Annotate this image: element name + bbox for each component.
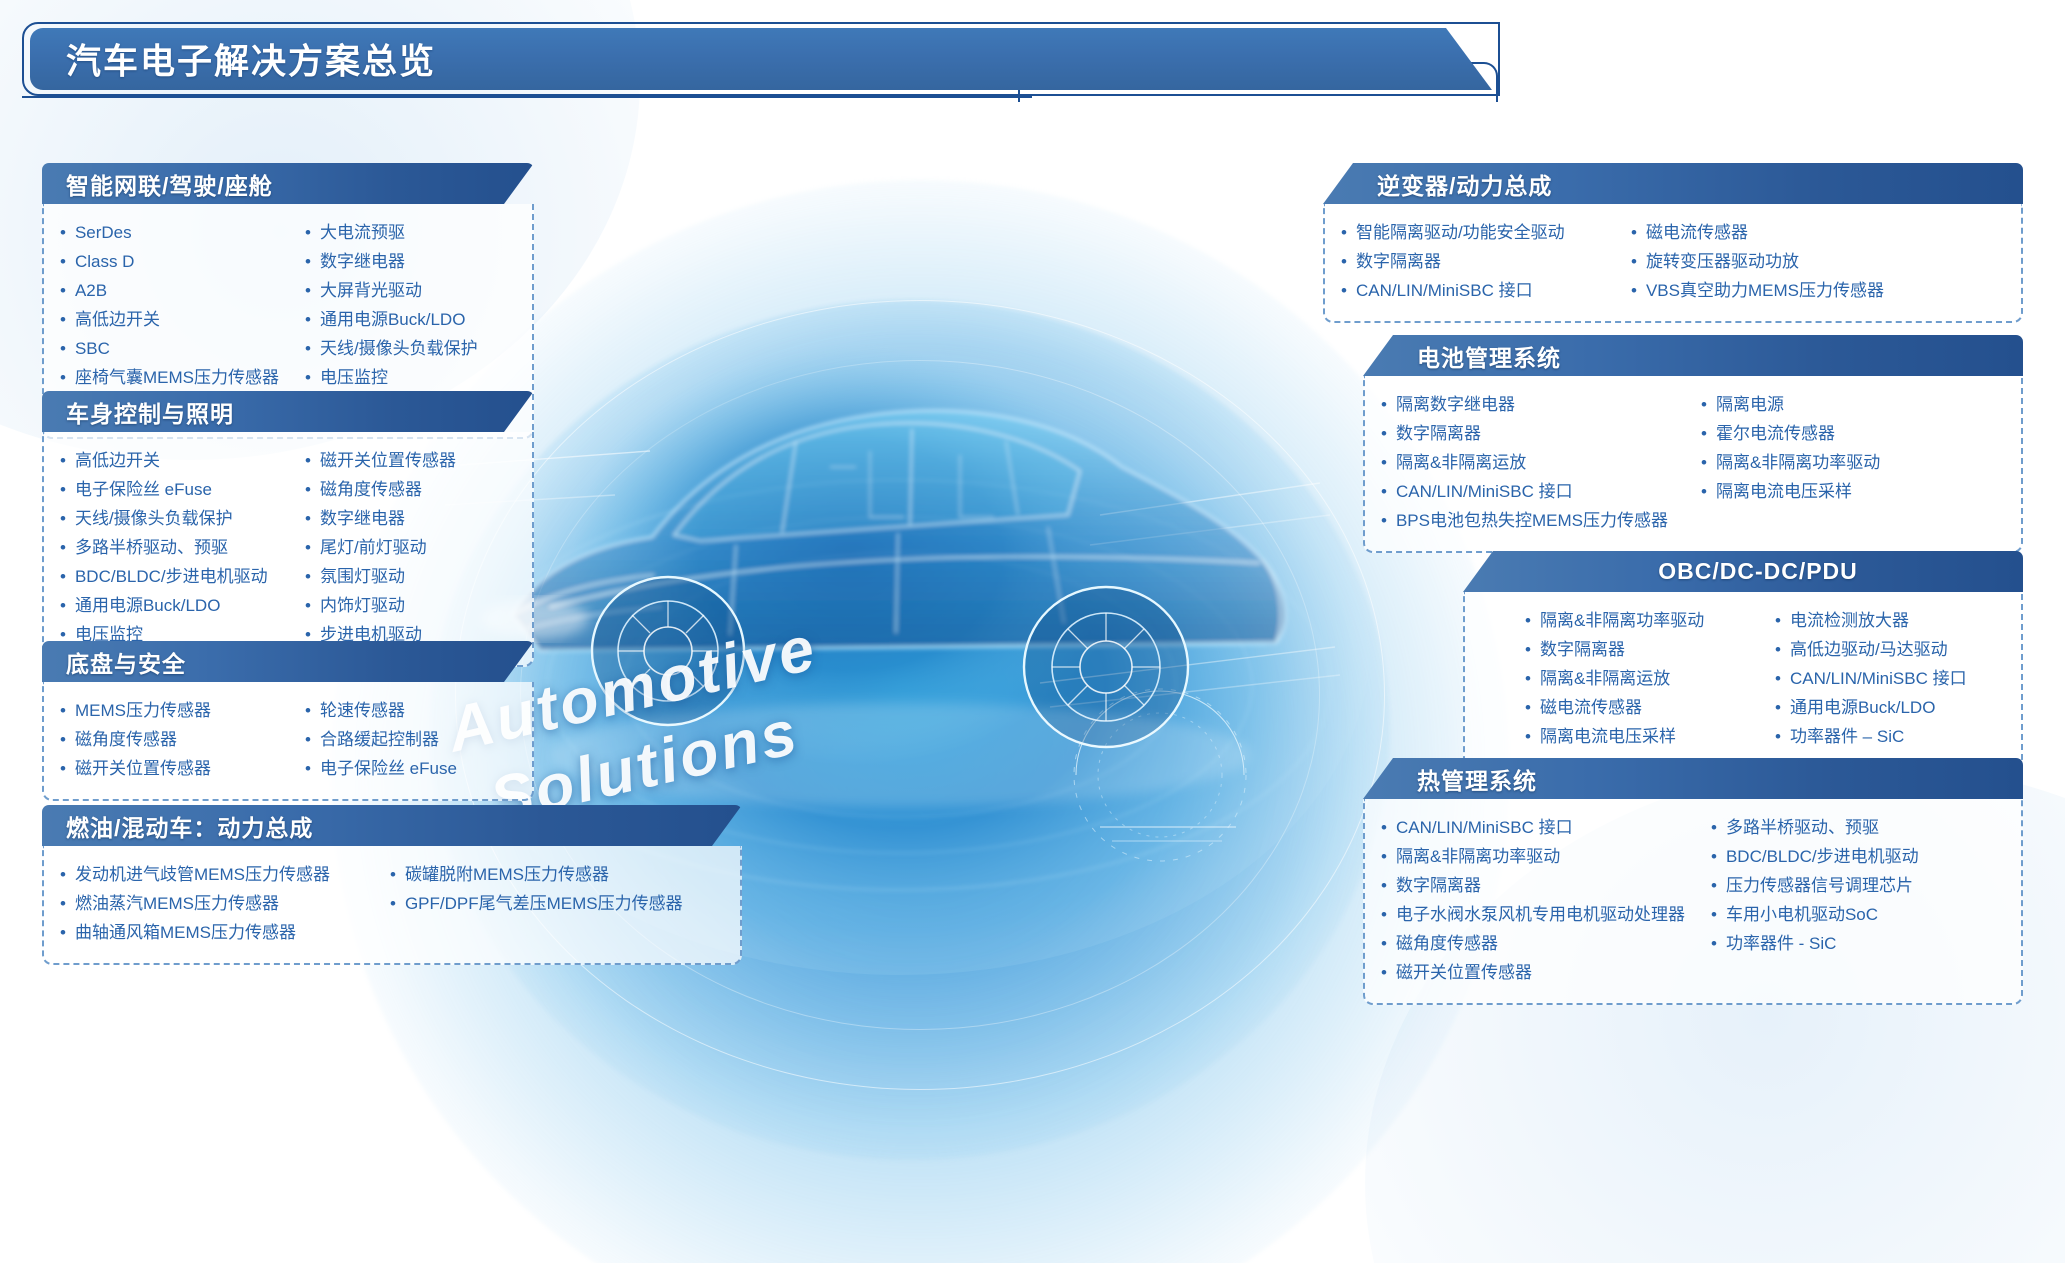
bullet-dot-icon: • xyxy=(390,860,396,889)
bullet-dot-icon: • xyxy=(305,363,311,392)
list-item: •尾灯/前灯驱动 xyxy=(305,533,456,562)
bullet-dot-icon: • xyxy=(305,754,311,783)
panel-column-2: •电流检测放大器•高低边驱动/马达驱动•CAN/LIN/MiniSBC 接口•通… xyxy=(1775,606,1967,751)
list-item: •隔离数字继电器 xyxy=(1381,390,1701,419)
bullet-dot-icon: • xyxy=(60,533,66,562)
bullet-dot-icon: • xyxy=(60,754,66,783)
bullet-dot-icon: • xyxy=(60,504,66,533)
list-item: •发动机进气歧管MEMS压力传感器 xyxy=(60,860,390,889)
list-item-label: 磁电流传感器 xyxy=(1646,218,1748,247)
list-item: •隔离电源 xyxy=(1701,390,1880,419)
list-item-label: 电子保险丝 eFuse xyxy=(75,475,212,504)
bullet-dot-icon: • xyxy=(60,446,66,475)
panel-body-content-thermal-management-system: •CAN/LIN/MiniSBC 接口•隔离&非隔离功率驱动•数字隔离器•电子水… xyxy=(1363,799,2023,1005)
list-item: •电压监控 xyxy=(305,363,478,392)
bullet-dot-icon: • xyxy=(60,562,66,591)
bullet-dot-icon: • xyxy=(60,918,66,947)
list-item: •内饰灯驱动 xyxy=(305,591,456,620)
list-item: •隔离&非隔离功率驱动 xyxy=(1525,606,1775,635)
header-banner-underline xyxy=(22,96,1032,98)
bullet-dot-icon: • xyxy=(60,334,66,363)
list-item-label: 磁开关位置传感器 xyxy=(75,754,211,783)
bullet-dot-icon: • xyxy=(1525,693,1531,722)
list-item: •隔离&非隔离功率驱动 xyxy=(1701,448,1880,477)
bullet-dot-icon: • xyxy=(60,725,66,754)
bullet-dot-icon: • xyxy=(1711,929,1717,958)
bullet-dot-icon: • xyxy=(305,334,311,363)
panel-body-content-ice-hybrid-powertrain: •发动机进气歧管MEMS压力传感器•燃油蒸汽MEMS压力传感器•曲轴通风箱MEM… xyxy=(42,846,742,965)
bullet-dot-icon: • xyxy=(1381,958,1387,987)
list-item-label: 霍尔电流传感器 xyxy=(1716,419,1835,448)
panel-header-inverter-powertrain: 逆变器/动力总成 xyxy=(1323,163,2023,204)
list-item: •数字隔离器 xyxy=(1525,635,1775,664)
list-item-label: BDC/BLDC/步进电机驱动 xyxy=(75,562,268,591)
list-item: •VBS真空助力MEMS压力传感器 xyxy=(1631,276,1884,305)
list-item-label: CAN/LIN/MiniSBC 接口 xyxy=(1396,813,1573,842)
list-item: •天线/摄像头负载保护 xyxy=(60,504,305,533)
bullet-dot-icon: • xyxy=(1381,419,1387,448)
panel-body-content-inverter-powertrain: •智能隔离驱动/功能安全驱动•数字隔离器•CAN/LIN/MiniSBC 接口 … xyxy=(1323,204,2023,323)
list-item: •通用电源Buck/LDO xyxy=(1775,693,1967,722)
list-item-label: 电子水阀水泵风机专用电机驱动处理器 xyxy=(1396,900,1685,929)
list-item-label: 数字隔离器 xyxy=(1396,871,1481,900)
list-item-label: 功率器件 - SiC xyxy=(1726,929,1837,958)
list-item: •多路半桥驱动、预驱 xyxy=(1711,813,1919,842)
list-item-label: 天线/摄像头负载保护 xyxy=(320,334,478,363)
list-item-label: 磁开关位置传感器 xyxy=(1396,958,1532,987)
list-item: •隔离电流电压采样 xyxy=(1701,477,1880,506)
panel-thermal-management-system[interactable]: 热管理系统 •CAN/LIN/MiniSBC 接口•隔离&非隔离功率驱动•数字隔… xyxy=(1363,758,2023,1005)
panel-ice-hybrid-powertrain[interactable]: 燃油/混动车：动力总成 •发动机进气歧管MEMS压力传感器•燃油蒸汽MEMS压力… xyxy=(42,805,742,965)
panel-chassis-safety[interactable]: 底盘与安全 •MEMS压力传感器•磁角度传感器•磁开关位置传感器 •轮速传感器•… xyxy=(42,641,534,801)
list-item-label: CAN/LIN/MiniSBC 接口 xyxy=(1790,664,1967,693)
list-item: •通用电源Buck/LDO xyxy=(305,305,478,334)
panel-header-battery-management-system: 电池管理系统 xyxy=(1363,335,2023,376)
list-item-label: 隔离&非隔离运放 xyxy=(1396,448,1526,477)
list-item-label: 电流检测放大器 xyxy=(1790,606,1909,635)
panel-header-chassis-safety: 底盘与安全 xyxy=(42,641,534,682)
bullet-dot-icon: • xyxy=(1381,390,1387,419)
bullet-dot-icon: • xyxy=(305,276,311,305)
list-item-label: 磁角度传感器 xyxy=(1396,929,1498,958)
bullet-dot-icon: • xyxy=(1341,276,1347,305)
list-item-label: 轮速传感器 xyxy=(320,696,405,725)
panel-battery-management-system[interactable]: 电池管理系统 •隔离数字继电器•数字隔离器•隔离&非隔离运放•CAN/LIN/M… xyxy=(1363,335,2023,553)
bullet-dot-icon: • xyxy=(1525,664,1531,693)
list-item: •天线/摄像头负载保护 xyxy=(305,334,478,363)
bullet-dot-icon: • xyxy=(1381,477,1387,506)
list-item: •磁开关位置传感器 xyxy=(1381,958,1711,987)
bullet-dot-icon: • xyxy=(1381,506,1387,535)
panel-column-1: •CAN/LIN/MiniSBC 接口•隔离&非隔离功率驱动•数字隔离器•电子水… xyxy=(1381,813,1711,987)
bullet-dot-icon: • xyxy=(1631,247,1637,276)
list-item: •磁开关位置传感器 xyxy=(60,754,305,783)
list-item-label: SerDes xyxy=(75,218,132,247)
list-item-label: 隔离数字继电器 xyxy=(1396,390,1515,419)
list-item-label: 隔离电源 xyxy=(1716,390,1784,419)
panel-title-inverter-powertrain: 逆变器/动力总成 xyxy=(1377,167,1552,201)
header-banner: 汽车电子解决方案总览 xyxy=(22,22,1500,96)
bullet-dot-icon: • xyxy=(1381,813,1387,842)
list-item: •CAN/LIN/MiniSBC 接口 xyxy=(1381,813,1711,842)
list-item: •轮速传感器 xyxy=(305,696,457,725)
list-item: •大屏背光驱动 xyxy=(305,276,478,305)
list-item: •磁电流传感器 xyxy=(1525,693,1775,722)
panel-inverter-powertrain[interactable]: 逆变器/动力总成 •智能隔离驱动/功能安全驱动•数字隔离器•CAN/LIN/Mi… xyxy=(1323,163,2023,323)
list-item: •大电流预驱 xyxy=(305,218,478,247)
list-item-label: 多路半桥驱动、预驱 xyxy=(75,533,228,562)
bullet-dot-icon: • xyxy=(305,247,311,276)
panel-header-obc-dcdc-pdu: OBC/DC-DC/PDU xyxy=(1463,551,2023,592)
panel-column-2: •轮速传感器•合路缓起控制器•电子保险丝 eFuse xyxy=(305,696,457,783)
list-item-label: BPS电池包热失控MEMS压力传感器 xyxy=(1396,506,1668,535)
list-item: •多路半桥驱动、预驱 xyxy=(60,533,305,562)
panel-column-1: •智能隔离驱动/功能安全驱动•数字隔离器•CAN/LIN/MiniSBC 接口 xyxy=(1341,218,1631,305)
bullet-dot-icon: • xyxy=(1525,606,1531,635)
panel-column-1: •发动机进气歧管MEMS压力传感器•燃油蒸汽MEMS压力传感器•曲轴通风箱MEM… xyxy=(60,860,390,947)
list-item-label: 数字隔离器 xyxy=(1356,247,1441,276)
bullet-dot-icon: • xyxy=(1701,390,1707,419)
list-item-label: 内饰灯驱动 xyxy=(320,591,405,620)
list-item-label: CAN/LIN/MiniSBC 接口 xyxy=(1396,477,1573,506)
list-item-label: 通用电源Buck/LDO xyxy=(320,305,465,334)
list-item-label: 多路半桥驱动、预驱 xyxy=(1726,813,1879,842)
panel-column-2: •磁电流传感器•旋转变压器驱动功放•VBS真空助力MEMS压力传感器 xyxy=(1631,218,1884,305)
bullet-dot-icon: • xyxy=(305,696,311,725)
list-item: •磁角度传感器 xyxy=(60,725,305,754)
panel-obc-dcdc-pdu[interactable]: OBC/DC-DC/PDU •隔离&非隔离功率驱动•数字隔离器•隔离&非隔离运放… xyxy=(1463,551,2023,769)
list-item: •通用电源Buck/LDO xyxy=(60,591,305,620)
list-item-label: MEMS压力传感器 xyxy=(75,696,211,725)
list-item: •氛围灯驱动 xyxy=(305,562,456,591)
list-item-label: 磁开关位置传感器 xyxy=(320,446,456,475)
bullet-dot-icon: • xyxy=(60,363,66,392)
panel-title-infotainment: 智能网联/驾驶/座舱 xyxy=(66,167,273,201)
list-item: •数字继电器 xyxy=(305,247,478,276)
list-item: •SerDes xyxy=(60,218,305,247)
list-item-label: 合路缓起控制器 xyxy=(320,725,439,754)
panel-column-2: •磁开关位置传感器•磁角度传感器•数字继电器•尾灯/前灯驱动•氛围灯驱动•内饰灯… xyxy=(305,446,456,649)
panel-header-body-control-lighting: 车身控制与照明 xyxy=(42,391,534,432)
list-item-label: 大屏背光驱动 xyxy=(320,276,422,305)
list-item: •电流检测放大器 xyxy=(1775,606,1967,635)
bullet-dot-icon: • xyxy=(1341,218,1347,247)
list-item-label: SBC xyxy=(75,334,110,363)
list-item-label: 通用电源Buck/LDO xyxy=(75,591,220,620)
panel-body-content-chassis-safety: •MEMS压力传感器•磁角度传感器•磁开关位置传感器 •轮速传感器•合路缓起控制… xyxy=(42,682,534,801)
bullet-dot-icon: • xyxy=(1711,813,1717,842)
list-item-label: 氛围灯驱动 xyxy=(320,562,405,591)
panel-body-control-lighting[interactable]: 车身控制与照明 •高低边开关•电子保险丝 eFuse•天线/摄像头负载保护•多路… xyxy=(42,391,534,667)
list-item: •功率器件 – SiC xyxy=(1775,722,1967,751)
bullet-dot-icon: • xyxy=(305,591,311,620)
bullet-dot-icon: • xyxy=(305,533,311,562)
list-item-label: Class D xyxy=(75,247,135,276)
list-item-label: 隔离&非隔离功率驱动 xyxy=(1396,842,1560,871)
panel-header-thermal-management-system: 热管理系统 xyxy=(1363,758,2023,799)
list-item: •MEMS压力传感器 xyxy=(60,696,305,725)
panel-header-ice-hybrid-powertrain: 燃油/混动车：动力总成 xyxy=(42,805,742,846)
bullet-dot-icon: • xyxy=(60,218,66,247)
panel-header-infotainment: 智能网联/驾驶/座舱 xyxy=(42,163,534,204)
list-item-label: 高低边开关 xyxy=(75,305,160,334)
list-item-label: 磁电流传感器 xyxy=(1540,693,1642,722)
bullet-dot-icon: • xyxy=(1381,448,1387,477)
list-item: •旋转变压器驱动功放 xyxy=(1631,247,1884,276)
list-item: •数字隔离器 xyxy=(1381,419,1701,448)
list-item: •隔离&非隔离功率驱动 xyxy=(1381,842,1711,871)
bullet-dot-icon: • xyxy=(60,696,66,725)
bullet-dot-icon: • xyxy=(1381,929,1387,958)
panel-title-battery-management-system: 电池管理系统 xyxy=(1417,339,1561,373)
list-item-label: A2B xyxy=(75,276,107,305)
list-item-label: 隔离电流电压采样 xyxy=(1716,477,1852,506)
list-item-label: 隔离&非隔离功率驱动 xyxy=(1540,606,1704,635)
bullet-dot-icon: • xyxy=(1381,900,1387,929)
list-item: •隔离&非隔离运放 xyxy=(1525,664,1775,693)
bullet-dot-icon: • xyxy=(60,889,66,918)
bullet-dot-icon: • xyxy=(1775,722,1781,751)
panel-column-1: •高低边开关•电子保险丝 eFuse•天线/摄像头负载保护•多路半桥驱动、预驱•… xyxy=(60,446,305,649)
list-item: •电子水阀水泵风机专用电机驱动处理器 xyxy=(1381,900,1711,929)
list-item: •电子保险丝 eFuse xyxy=(305,754,457,783)
bullet-dot-icon: • xyxy=(60,860,66,889)
list-item-label: 隔离电流电压采样 xyxy=(1540,722,1676,751)
panel-column-2: •隔离电源•霍尔电流传感器•隔离&非隔离功率驱动•隔离电流电压采样 xyxy=(1701,390,1880,535)
bullet-dot-icon: • xyxy=(1631,276,1637,305)
list-item-label: CAN/LIN/MiniSBC 接口 xyxy=(1356,276,1533,305)
list-item: •合路缓起控制器 xyxy=(305,725,457,754)
list-item: •磁角度传感器 xyxy=(1381,929,1711,958)
list-item: •功率器件 - SiC xyxy=(1711,929,1919,958)
panel-body-content-battery-management-system: •隔离数字继电器•数字隔离器•隔离&非隔离运放•CAN/LIN/MiniSBC … xyxy=(1363,376,2023,553)
list-item-label: 天线/摄像头负载保护 xyxy=(75,504,233,533)
list-item: •GPF/DPF尾气差压MEMS压力传感器 xyxy=(390,889,683,918)
list-item: •车用小电机驱动SoC xyxy=(1711,900,1919,929)
list-item: •隔离电流电压采样 xyxy=(1525,722,1775,751)
list-item: •CAN/LIN/MiniSBC 接口 xyxy=(1775,664,1967,693)
panel-title-obc-dcdc-pdu: OBC/DC-DC/PDU xyxy=(1658,558,1858,585)
list-item-label: 高低边驱动/马达驱动 xyxy=(1790,635,1948,664)
list-item-label: 隔离&非隔离功率驱动 xyxy=(1716,448,1880,477)
list-item: •压力传感器信号调理芯片 xyxy=(1711,871,1919,900)
list-item: •碳罐脱附MEMS压力传感器 xyxy=(390,860,683,889)
bullet-dot-icon: • xyxy=(305,446,311,475)
list-item-label: 曲轴通风箱MEMS压力传感器 xyxy=(75,918,296,947)
bullet-dot-icon: • xyxy=(1775,693,1781,722)
panel-body-content-body-control-lighting: •高低边开关•电子保险丝 eFuse•天线/摄像头负载保护•多路半桥驱动、预驱•… xyxy=(42,432,534,667)
list-item-label: 通用电源Buck/LDO xyxy=(1790,693,1935,722)
panel-column-1: •MEMS压力传感器•磁角度传感器•磁开关位置传感器 xyxy=(60,696,305,783)
list-item: •霍尔电流传感器 xyxy=(1701,419,1880,448)
bullet-dot-icon: • xyxy=(60,475,66,504)
list-item: •隔离&非隔离运放 xyxy=(1381,448,1701,477)
bullet-dot-icon: • xyxy=(305,504,311,533)
list-item: •电子保险丝 eFuse xyxy=(60,475,305,504)
page-title: 汽车电子解决方案总览 xyxy=(66,34,436,85)
bullet-dot-icon: • xyxy=(1701,419,1707,448)
panel-column-2: •多路半桥驱动、预驱•BDC/BLDC/步进电机驱动•压力传感器信号调理芯片•车… xyxy=(1711,813,1919,987)
list-item: •数字继电器 xyxy=(305,504,456,533)
list-item-label: 磁角度传感器 xyxy=(75,725,177,754)
list-item: •曲轴通风箱MEMS压力传感器 xyxy=(60,918,390,947)
list-item: •SBC xyxy=(60,334,305,363)
list-item-label: GPF/DPF尾气差压MEMS压力传感器 xyxy=(405,889,683,918)
list-item: •BPS电池包热失控MEMS压力传感器 xyxy=(1381,506,1701,535)
list-item-label: 碳罐脱附MEMS压力传感器 xyxy=(405,860,609,889)
list-item: •磁开关位置传感器 xyxy=(305,446,456,475)
list-item-label: 尾灯/前灯驱动 xyxy=(320,533,427,562)
bullet-dot-icon: • xyxy=(305,562,311,591)
list-item: •Class D xyxy=(60,247,305,276)
list-item-label: 高低边开关 xyxy=(75,446,160,475)
list-item: •数字隔离器 xyxy=(1341,247,1631,276)
bullet-dot-icon: • xyxy=(1525,722,1531,751)
list-item-label: 数字继电器 xyxy=(320,504,405,533)
bullet-dot-icon: • xyxy=(1701,477,1707,506)
bullet-dot-icon: • xyxy=(305,305,311,334)
bullet-dot-icon: • xyxy=(1775,606,1781,635)
list-item: •A2B xyxy=(60,276,305,305)
list-item: •CAN/LIN/MiniSBC 接口 xyxy=(1381,477,1701,506)
panel-title-thermal-management-system: 热管理系统 xyxy=(1417,762,1537,796)
panel-title-chassis-safety: 底盘与安全 xyxy=(66,645,186,679)
list-item-label: 数字隔离器 xyxy=(1396,419,1481,448)
list-item-label: 功率器件 – SiC xyxy=(1790,722,1904,751)
list-item: •磁电流传感器 xyxy=(1631,218,1884,247)
panel-title-ice-hybrid-powertrain: 燃油/混动车：动力总成 xyxy=(66,809,313,843)
bullet-dot-icon: • xyxy=(305,725,311,754)
bullet-dot-icon: • xyxy=(1701,448,1707,477)
list-item-label: 电子保险丝 eFuse xyxy=(320,754,457,783)
list-item-label: 数字继电器 xyxy=(320,247,405,276)
list-item: •高低边开关 xyxy=(60,446,305,475)
list-item-label: 燃油蒸汽MEMS压力传感器 xyxy=(75,889,279,918)
bullet-dot-icon: • xyxy=(305,475,311,504)
list-item-label: BDC/BLDC/步进电机驱动 xyxy=(1726,842,1919,871)
list-item: •CAN/LIN/MiniSBC 接口 xyxy=(1341,276,1631,305)
list-item-label: 座椅气囊MEMS压力传感器 xyxy=(75,363,279,392)
bullet-dot-icon: • xyxy=(60,305,66,334)
bullet-dot-icon: • xyxy=(390,889,396,918)
list-item: •燃油蒸汽MEMS压力传感器 xyxy=(60,889,390,918)
list-item-label: 磁角度传感器 xyxy=(320,475,422,504)
bullet-dot-icon: • xyxy=(1381,871,1387,900)
list-item-label: 隔离&非隔离运放 xyxy=(1540,664,1670,693)
list-item: •数字隔离器 xyxy=(1381,871,1711,900)
list-item-label: VBS真空助力MEMS压力传感器 xyxy=(1646,276,1884,305)
list-item-label: 智能隔离驱动/功能安全驱动 xyxy=(1356,218,1565,247)
list-item: •高低边驱动/马达驱动 xyxy=(1775,635,1967,664)
list-item-label: 发动机进气歧管MEMS压力传感器 xyxy=(75,860,330,889)
panel-column-1: •隔离&非隔离功率驱动•数字隔离器•隔离&非隔离运放•磁电流传感器•隔离电流电压… xyxy=(1525,606,1775,751)
bullet-dot-icon: • xyxy=(60,276,66,305)
list-item-label: 数字隔离器 xyxy=(1540,635,1625,664)
bullet-dot-icon: • xyxy=(60,247,66,276)
list-item: •磁角度传感器 xyxy=(305,475,456,504)
panel-title-body-control-lighting: 车身控制与照明 xyxy=(66,395,234,429)
bullet-dot-icon: • xyxy=(1711,900,1717,929)
bullet-dot-icon: • xyxy=(1775,664,1781,693)
list-item: •智能隔离驱动/功能安全驱动 xyxy=(1341,218,1631,247)
bullet-dot-icon: • xyxy=(1711,871,1717,900)
bullet-dot-icon: • xyxy=(1341,247,1347,276)
panel-body-content-obc-dcdc-pdu: •隔离&非隔离功率驱动•数字隔离器•隔离&非隔离运放•磁电流传感器•隔离电流电压… xyxy=(1463,592,2023,769)
bullet-dot-icon: • xyxy=(1525,635,1531,664)
bullet-dot-icon: • xyxy=(1775,635,1781,664)
list-item-label: 电压监控 xyxy=(320,363,388,392)
panel-column-2: •碳罐脱附MEMS压力传感器•GPF/DPF尾气差压MEMS压力传感器 xyxy=(390,860,683,947)
list-item: •BDC/BLDC/步进电机驱动 xyxy=(60,562,305,591)
list-item-label: 大电流预驱 xyxy=(320,218,405,247)
list-item-label: 旋转变压器驱动功放 xyxy=(1646,247,1799,276)
list-item: •BDC/BLDC/步进电机驱动 xyxy=(1711,842,1919,871)
list-item: •座椅气囊MEMS压力传感器 xyxy=(60,363,305,392)
bullet-dot-icon: • xyxy=(1711,842,1717,871)
bullet-dot-icon: • xyxy=(1381,842,1387,871)
bullet-dot-icon: • xyxy=(60,591,66,620)
panel-column-1: •隔离数字继电器•数字隔离器•隔离&非隔离运放•CAN/LIN/MiniSBC … xyxy=(1381,390,1701,535)
list-item: •高低边开关 xyxy=(60,305,305,334)
bullet-dot-icon: • xyxy=(305,218,311,247)
list-item-label: 压力传感器信号调理芯片 xyxy=(1726,871,1913,900)
list-item-label: 车用小电机驱动SoC xyxy=(1726,900,1878,929)
bullet-dot-icon: • xyxy=(1631,218,1637,247)
